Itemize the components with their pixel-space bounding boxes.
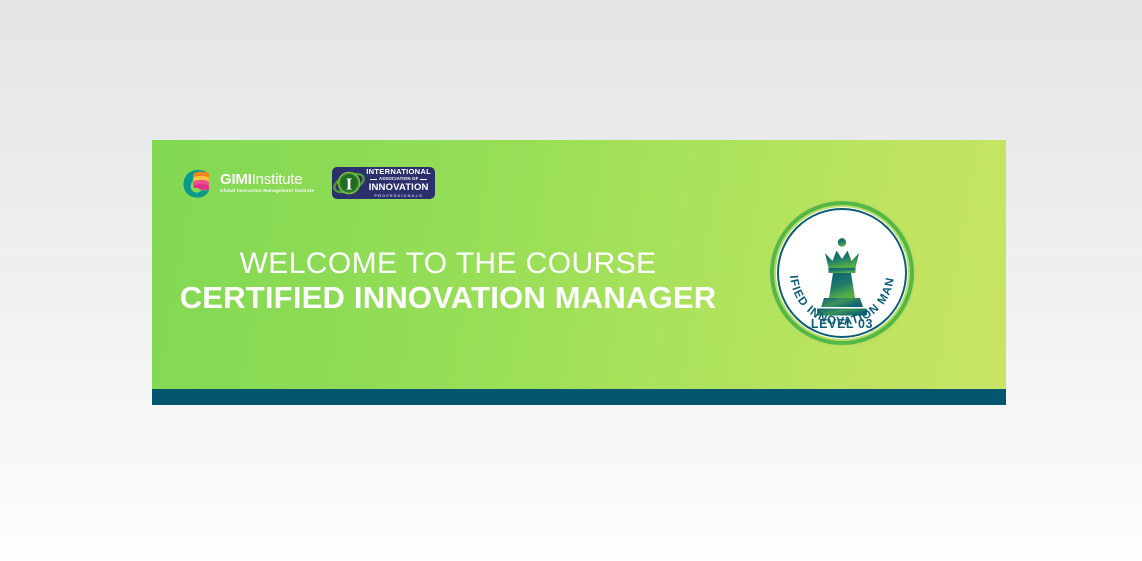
gimi-institute-logo: GIMIInstitute Global Innovation Manageme…	[179, 165, 314, 201]
svg-text:I: I	[346, 175, 353, 194]
gimi-name-light: Institute	[252, 171, 303, 188]
headline-block: WELCOME TO THE COURSE CERTIFIED INNOVATI…	[152, 248, 744, 316]
gimi-wordmark-text: GIMIInstitute	[220, 172, 314, 187]
gimi-tagline: Global Innovation Management Institute	[220, 189, 314, 194]
banner-hero-area: GIMIInstitute Global Innovation Manageme…	[152, 140, 1006, 389]
seal-brand-text: GIMI	[820, 216, 863, 235]
iaoip-line-innovation: INNOVATION	[369, 183, 429, 193]
iaoip-globe-icon: I	[333, 167, 365, 199]
iaoip-line-professionals: PROFESSIONALS	[374, 194, 423, 198]
certification-seal: GIMI LEVEL 03 CERTIFIED INNOVATION MANAG…	[766, 197, 918, 349]
gimi-wordmark: GIMIInstitute Global Innovation Manageme…	[220, 172, 314, 194]
iaoip-line-association-of: ASSOCIATION OF	[370, 177, 428, 181]
gimi-logo-mark	[179, 165, 215, 201]
iaoip-line-international: INTERNATIONAL	[366, 168, 431, 176]
logo-row: GIMIInstitute Global Innovation Manageme…	[179, 165, 435, 201]
banner-footer-bar	[152, 389, 1006, 405]
iaoip-logo: I INTERNATIONAL ASSOCIATION OF INNOVATIO…	[332, 167, 435, 199]
headline-eyebrow: WELCOME TO THE COURSE	[152, 248, 744, 280]
certification-seal-graphic: GIMI LEVEL 03 CERTIFIED INNOVATION MANAG…	[766, 197, 918, 349]
gimi-name-bold: GIMI	[220, 171, 252, 188]
page-title: CERTIFIED INNOVATION MANAGER	[152, 281, 744, 316]
iaoip-text-block: INTERNATIONAL ASSOCIATION OF INNOVATION …	[366, 168, 435, 198]
course-welcome-banner: GIMIInstitute Global Innovation Manageme…	[152, 140, 1006, 405]
iaoip-globe-wrap: I	[332, 167, 366, 199]
